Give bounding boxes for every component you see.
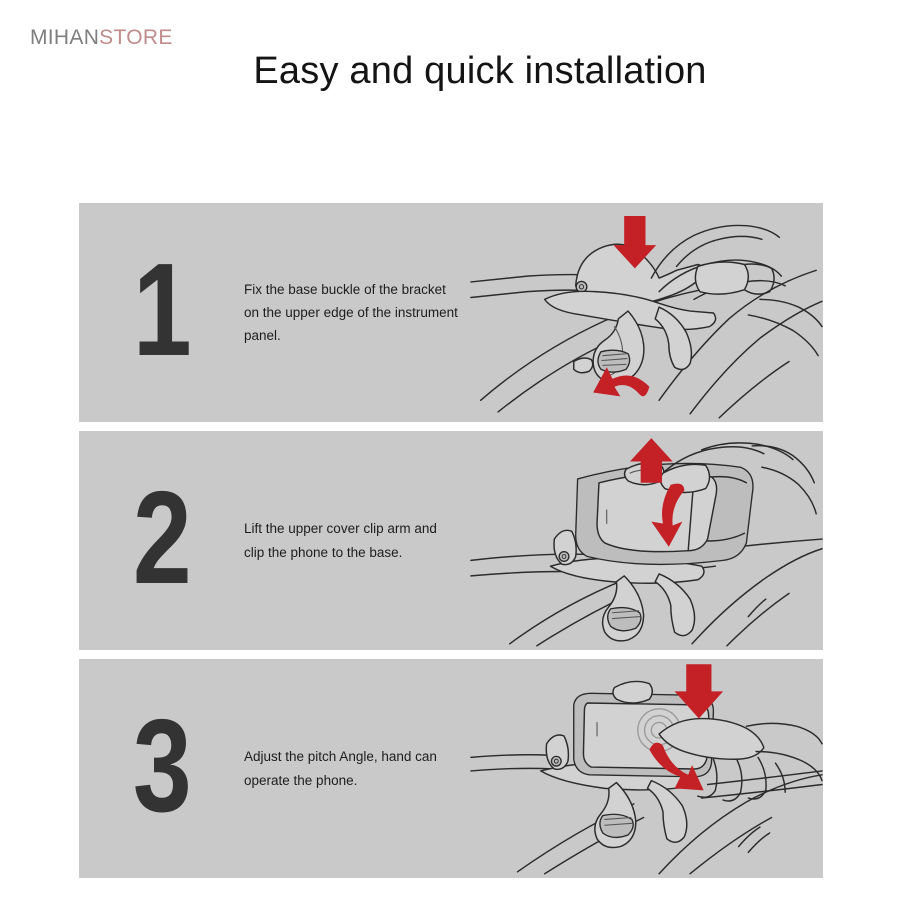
brand-logo-secondary: STORE [99, 26, 172, 49]
step-text-2: Lift the upper cover clip arm and clip t… [244, 431, 469, 650]
step-number-3: 3 [96, 659, 228, 878]
brand-logo-primary: MIHAN [30, 26, 99, 49]
step-panel-3: 3 Adjust the pitch Angle, hand can opera… [79, 659, 823, 878]
installation-steps-list: 1 Fix the base buckle of the bracket on … [79, 203, 823, 878]
step-panel-2: 2 Lift the upper cover clip arm and clip… [79, 431, 823, 650]
step-number-2: 2 [96, 431, 228, 650]
page-title: Easy and quick installation [0, 50, 900, 93]
step-panel-1: 1 Fix the base buckle of the bracket on … [79, 203, 823, 422]
brand-logo: MIHANSTORE [30, 27, 173, 48]
step-text-1: Fix the base buckle of the bracket on th… [244, 203, 469, 422]
step-illustration-3 [469, 659, 823, 878]
step-number-1: 1 [96, 203, 228, 422]
step-illustration-2 [469, 431, 823, 650]
step-text-3: Adjust the pitch Angle, hand can operate… [244, 659, 469, 878]
step-illustration-1 [469, 203, 823, 422]
